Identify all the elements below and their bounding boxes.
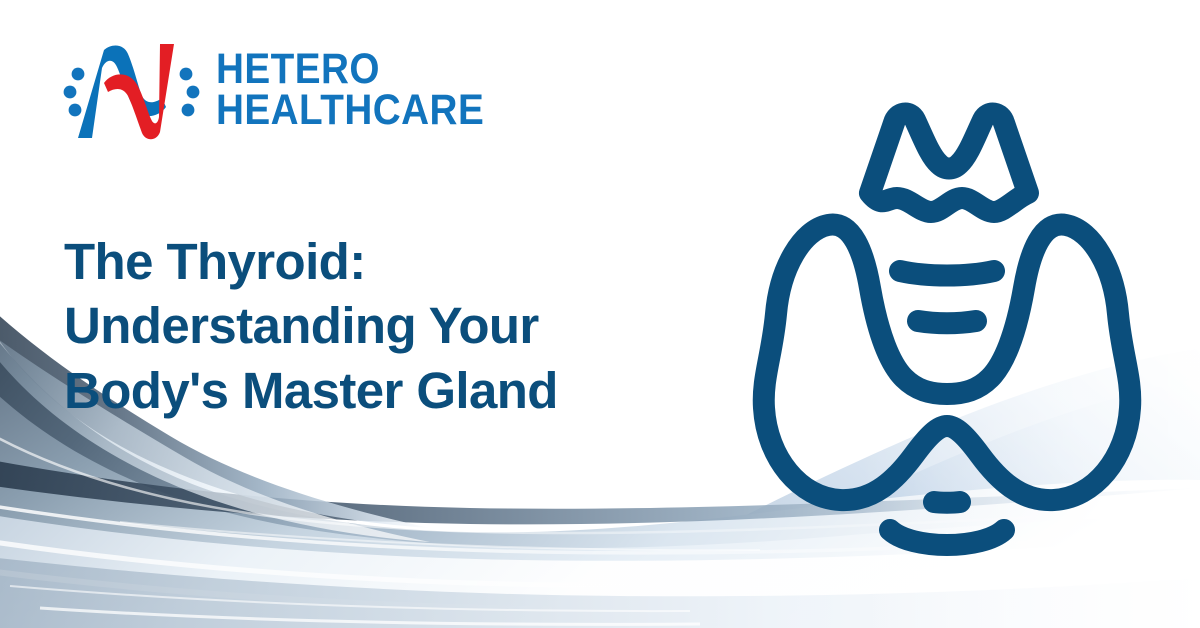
banner-root: HETERO HEALTHCARE The Thyroid: Understan… <box>0 0 1200 628</box>
hetero-logo-mark <box>62 34 202 146</box>
brand-name-line-1: HETERO <box>216 49 484 90</box>
brand-lockup[interactable]: HETERO HEALTHCARE <box>62 34 514 146</box>
tracheal-ring-middle <box>918 321 976 323</box>
thyroid-gland-illustration <box>742 78 1152 578</box>
brand-name-line-2: HEALTHCARE <box>216 90 484 131</box>
tracheal-ring-upper <box>900 271 994 276</box>
brand-wordmark: HETERO HEALTHCARE <box>216 49 514 132</box>
thyroid-cartilage-shield <box>870 114 1028 212</box>
tracheal-ring-lower <box>934 502 960 503</box>
tracheal-base-arc <box>890 530 1004 545</box>
page-title: The Thyroid: Understanding Your Body's M… <box>64 230 724 423</box>
